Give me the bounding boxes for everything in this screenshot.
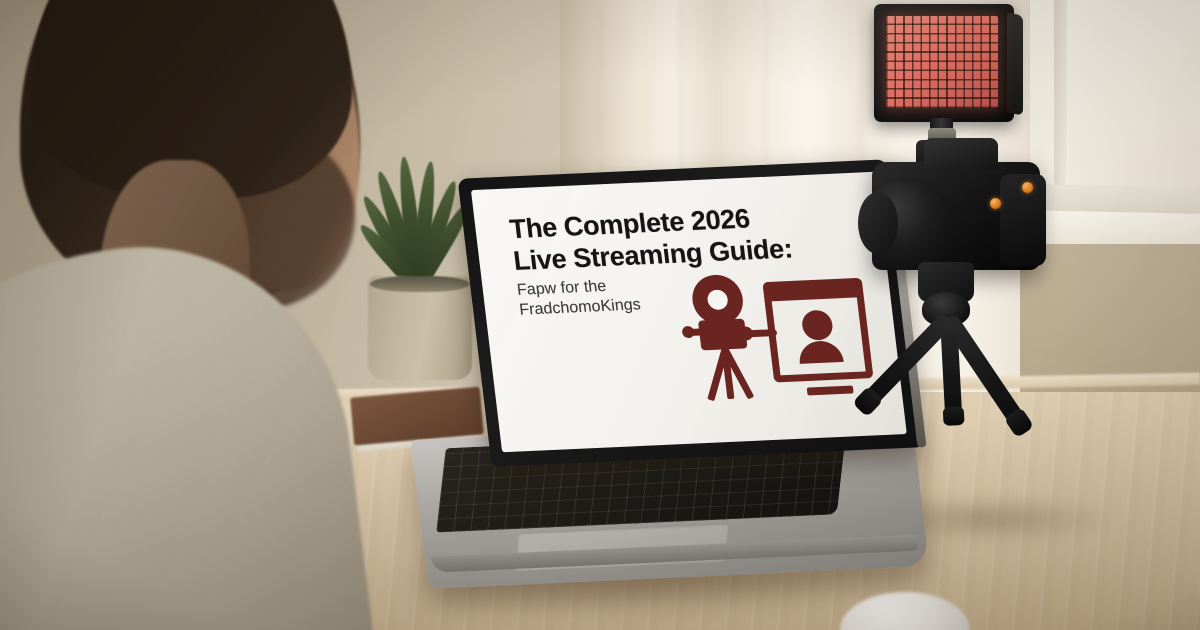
led-panel-side [1007, 12, 1023, 115]
dslr-camera[interactable] [872, 162, 1040, 270]
screen-stand-line [807, 385, 854, 395]
presentation-slide: The Complete 2026 Live Streaming Guide: … [471, 172, 907, 453]
person-on-screen-icon [766, 281, 869, 379]
laptop-lid: The Complete 2026 Live Streaming Guide: … [457, 159, 922, 467]
tripod-leg [858, 312, 955, 412]
camera-indicator-light [990, 198, 1001, 209]
laptop-screen[interactable]: The Complete 2026 Live Streaming Guide: … [471, 172, 907, 453]
led-light-panel[interactable] [874, 4, 1014, 122]
camera-rig [860, 0, 1120, 560]
camera-indicator-light [1022, 182, 1033, 193]
man-viewing-laptop [0, 0, 430, 630]
led-grid [886, 16, 998, 108]
slide-illustration [672, 263, 883, 426]
photo-scene: The Complete 2026 Live Streaming Guide: … [0, 0, 1200, 630]
camera-lens-rim [858, 192, 898, 254]
camera-prism [924, 138, 998, 170]
